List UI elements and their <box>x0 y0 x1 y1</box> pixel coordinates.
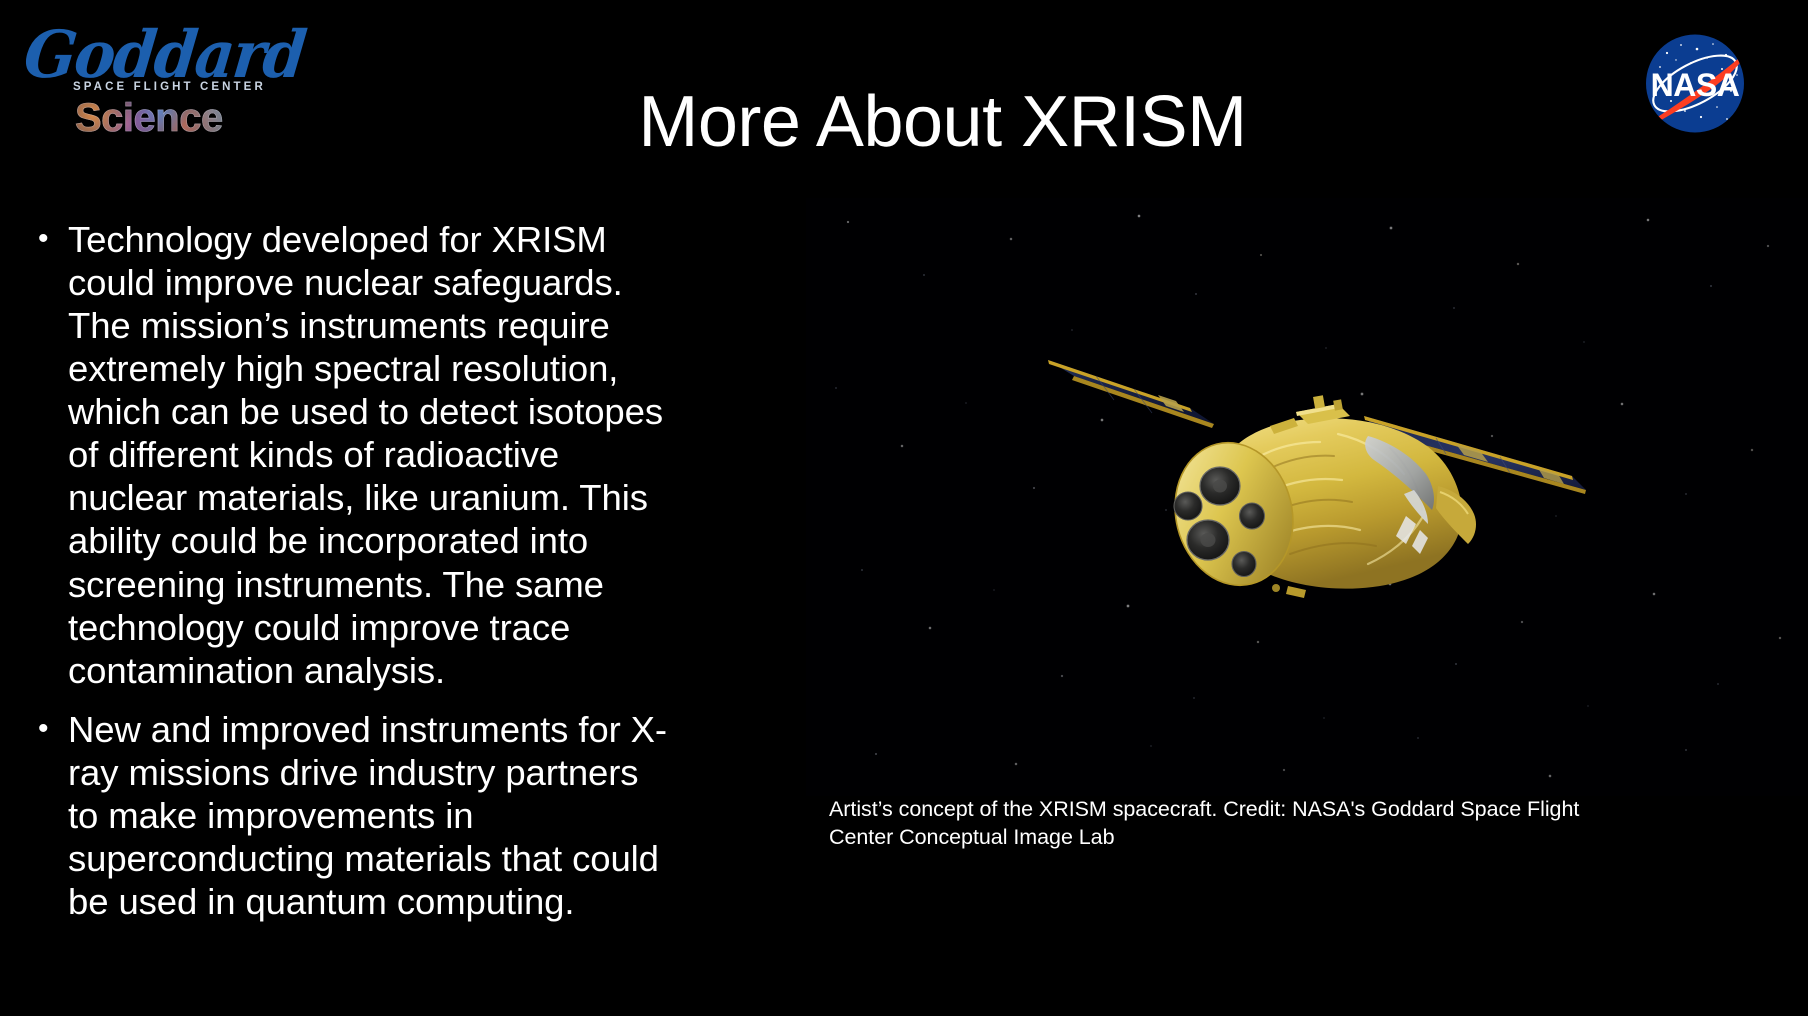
slide-root: Goddard SPACE FLIGHT CENTER Science More… <box>0 0 1808 1016</box>
solar-panel-left <box>1048 360 1214 428</box>
xrism-spacecraft-illustration <box>1038 338 1598 658</box>
bullet-marker-icon: • <box>30 708 68 751</box>
page-title: More About XRISM <box>270 82 1615 163</box>
xrism-spacecraft-image <box>806 198 1808 796</box>
image-caption: Artist’s concept of the XRISM spacecraft… <box>829 795 1609 852</box>
goddard-space-flight-center-label: SPACE FLIGHT CENTER <box>73 82 266 94</box>
goddard-science-wordmark: Science <box>75 98 223 138</box>
nasa-meatball-logo: NASA <box>1627 27 1763 140</box>
nasa-wordmark-text: NASA <box>1651 67 1740 103</box>
bullet-text: New and improved instruments for X-ray m… <box>68 708 670 923</box>
bullet-list: • Technology developed for XRISM could i… <box>30 218 670 923</box>
bullet-marker-icon: • <box>30 218 68 261</box>
bullet-text: Technology developed for XRISM could imp… <box>68 218 670 692</box>
goddard-science-logo: Goddard SPACE FLIGHT CENTER Science <box>28 22 258 140</box>
list-item: • New and improved instruments for X-ray… <box>30 708 670 923</box>
lower-hardware <box>1272 584 1306 598</box>
goddard-script-wordmark: Goddard <box>21 22 307 87</box>
list-item: • Technology developed for XRISM could i… <box>30 218 670 692</box>
